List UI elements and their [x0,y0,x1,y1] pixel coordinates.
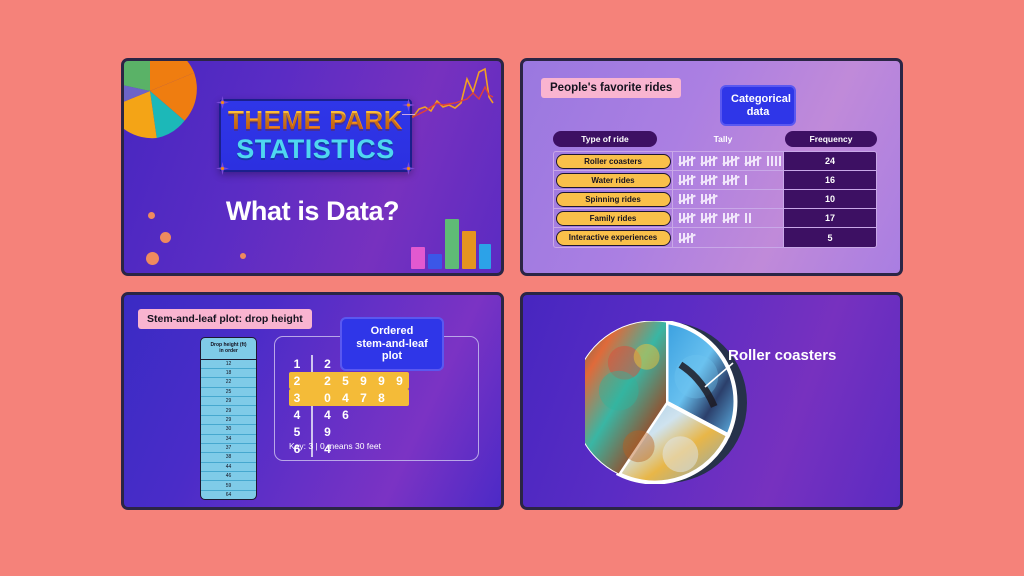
column-header-tally: Tally [671,131,775,147]
stem-value: 5 [289,425,305,439]
leaf-value: 4 [319,408,337,422]
slide-pictorial-pie[interactable]: Roller coasters [520,292,903,510]
cell-type-of-ride: Roller coasters [554,152,672,170]
table-row: Spinning rides10 [554,190,876,209]
tally-group-of-five-icon [745,156,761,166]
badge-categorical-data: Categorical data [720,85,796,126]
leaf-values: 9 [319,425,337,439]
badge-line2: stem-and-leaf plot [351,338,433,363]
tally-singles-icon [745,213,753,223]
badge-ordered-stem-and-leaf: Ordered stem-and-leaf plot [340,317,444,371]
cell-type-of-ride: Family rides [554,209,672,227]
leaf-value: 9 [373,374,391,388]
drop-height-rows: 121822252929293034373844465964 [201,360,256,500]
slide-tag-stem-and-leaf: Stem-and-leaf plot: drop height [138,309,312,329]
drop-height-value: 30 [201,425,256,434]
slide-headline: What is Data? [124,196,501,227]
badge-line1: Categorical [731,93,785,106]
cell-frequency: 10 [784,190,876,208]
tally-group-of-five-icon [679,175,695,185]
table-row: Roller coasters24 [554,152,876,171]
decorative-dot [146,252,159,265]
tally-group-of-five-icon [723,156,739,166]
drop-height-value: 34 [201,435,256,444]
leaf-value: 9 [319,425,337,439]
ride-pill: Family rides [556,211,671,226]
drop-height-value: 38 [201,453,256,462]
slide-tag-favorite-rides: People's favorite rides [541,78,681,98]
star-corner-icon [216,96,229,109]
drop-height-table: Drop height (ft) in order 12182225292929… [200,337,257,500]
column-header-type-of-ride: Type of ride [553,131,657,147]
slide-stem-and-leaf[interactable]: Stem-and-leaf plot: drop height Drop hei… [121,292,504,510]
tally-group-of-five-icon [679,194,695,204]
pictorial-pie-chart[interactable] [585,321,748,484]
star-corner-icon [402,162,415,175]
drop-height-value: 25 [201,388,256,397]
title-plate[interactable]: THEME PARK STATISTICS [219,99,412,172]
pie-slices [585,321,748,484]
leaf-value: 7 [355,391,373,405]
cell-tally [672,171,784,189]
drop-height-value: 44 [201,463,256,472]
table-row: Water rides16 [554,171,876,190]
cell-frequency: 16 [784,171,876,189]
drop-height-value: 29 [201,406,256,415]
tally-group-of-five-icon [723,213,739,223]
cell-type-of-ride: Spinning rides [554,190,672,208]
pie-chart-decoration-icon [121,58,198,139]
cell-frequency: 5 [784,228,876,247]
drop-height-value: 18 [201,369,256,378]
stem-leaf-divider [311,355,313,372]
leaf-value: 5 [337,374,355,388]
leaf-value: 4 [337,391,355,405]
drop-height-header-line2: in order [203,348,254,354]
tally-group-of-five-icon [701,175,717,185]
leaf-value: 9 [391,374,409,388]
stem-value: 1 [289,357,305,371]
leaf-value: 9 [355,374,373,388]
table-row: Interactive experiences5 [554,228,876,247]
slide-title[interactable]: THEME PARK STATISTICS What is Data? [121,58,504,276]
leaf-values: 25999 [319,374,409,388]
cell-tally [672,190,784,208]
drop-height-value: 29 [201,416,256,425]
stem-and-leaf-row: 446 [289,406,409,423]
tally-singles-icon [767,156,783,166]
tally-group-of-five-icon [679,156,695,166]
drop-height-value: 22 [201,378,256,387]
ride-pill: Spinning rides [556,192,671,207]
tally-group-of-five-icon [679,233,695,243]
cell-tally [672,228,784,247]
decorative-dot [160,232,171,243]
cell-tally [672,209,784,227]
badge-line1: Ordered [351,325,433,338]
leaf-values: 46 [319,408,355,422]
stem-and-leaf-row: 30478 [289,389,409,406]
tally-singles-icon [745,175,749,185]
tally-group-of-five-icon [701,194,717,204]
ride-pill: Interactive experiences [556,230,671,246]
cell-frequency: 17 [784,209,876,227]
stem-value: 3 [289,391,305,405]
deck-title-line1: THEME PARK [228,107,403,133]
tally-group-of-five-icon [679,213,695,223]
stem-leaf-divider [311,389,313,406]
drop-height-value: 37 [201,444,256,453]
tally-group-of-five-icon [723,175,739,185]
deck-title-line2: STATISTICS [236,135,395,163]
badge-line2: data [731,106,785,119]
decorative-dot [240,253,246,259]
leaf-value: 2 [319,357,337,371]
stem-value: 2 [289,374,305,388]
slide-tally-table[interactable]: People's favorite rides Categorical data… [520,58,903,276]
cell-type-of-ride: Interactive experiences [554,228,672,247]
stem-leaf-divider [311,372,313,389]
leaf-value: 2 [319,374,337,388]
cell-tally [672,152,784,170]
tally-group-of-five-icon [701,213,717,223]
drop-height-value: 59 [201,481,256,490]
drop-height-table-header: Drop height (ft) in order [201,338,256,360]
slide-board: THEME PARK STATISTICS What is Data? Peop… [0,0,1024,576]
table-row: Family rides17 [554,209,876,228]
column-header-frequency: Frequency [785,131,877,147]
stem-and-leaf-row: 59 [289,423,409,440]
tally-table: Type of ride Tally Frequency Roller coas… [553,131,877,248]
ride-pill: Roller coasters [556,154,671,169]
stem-and-leaf-key: Key: 3 | 0 means 30 feet [289,441,381,451]
stem-leaf-divider [311,406,313,423]
tally-group-of-five-icon [701,156,717,166]
drop-height-value: 12 [201,360,256,369]
callout-label-roller-coasters: Roller coasters [728,347,836,364]
table-header-row: Type of ride Tally Frequency [553,131,877,147]
leaf-values: 0478 [319,391,391,405]
stem-leaf-divider [311,423,313,440]
cell-frequency: 24 [784,152,876,170]
star-corner-icon [216,162,229,175]
leaf-value: 8 [373,391,391,405]
cell-type-of-ride: Water rides [554,171,672,189]
drop-height-value: 29 [201,397,256,406]
leaf-value: 6 [337,408,355,422]
stem-value: 4 [289,408,305,422]
ride-pill: Water rides [556,173,671,188]
star-corner-icon [402,96,415,115]
leaf-value: 0 [319,391,337,405]
drop-height-value: 64 [201,491,256,499]
table-body: Roller coasters24Water rides16Spinning r… [553,151,877,248]
stem-and-leaf-row: 225999 [289,372,409,389]
drop-height-value: 46 [201,472,256,481]
